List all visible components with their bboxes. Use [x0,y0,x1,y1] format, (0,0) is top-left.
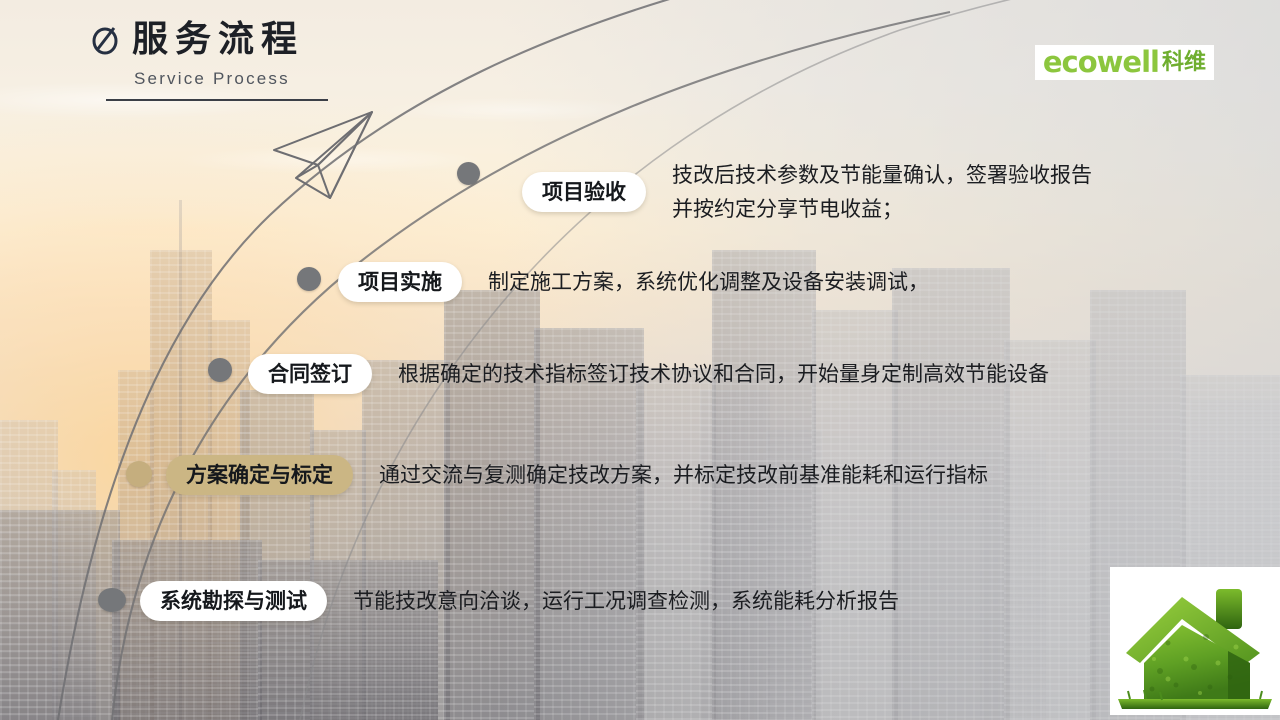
green-house-image [1110,567,1280,715]
timeline-dot-4[interactable] [126,461,152,487]
page-subtitle: Service Process [134,69,328,89]
step-description-2-line1: 制定施工方案，系统优化调整及设备安装调试， [488,270,929,294]
brand-name-en: ecowell [1043,48,1159,77]
step-label-4[interactable]: 方案确定与标定 [166,455,353,495]
step-description-2: 制定施工方案，系统优化调整及设备安装调试， [488,265,929,299]
step-label-3[interactable]: 合同签订 [248,354,372,394]
step-item-3[interactable]: 合同签订 根据确定的技术指标签订技术协议和合同，开始量身定制高效节能设备 [248,354,1049,394]
brand-name-cn: 科维 [1162,52,1206,74]
title-divider [106,99,328,101]
page-title: 服务流程 [132,22,304,58]
step-description-3: 根据确定的技术指标签订技术协议和合同，开始量身定制高效节能设备 [398,357,1049,391]
step-description-1: 技改后技术参数及节能量确认，签署验收报告 并按约定分享节电收益； [672,158,1092,226]
step-label-5[interactable]: 系统勘探与测试 [140,581,327,621]
step-item-5[interactable]: 系统勘探与测试 节能技改意向洽谈，运行工况调查检测，系统能耗分析报告 [140,581,899,621]
timeline-dot-2[interactable] [297,267,321,291]
step-label-1[interactable]: 项目验收 [522,172,646,212]
step-item-1[interactable]: 项目验收 技改后技术参数及节能量确认，签署验收报告 并按约定分享节电收益； [522,158,1092,226]
slide-canvas: 服务流程 Service Process ecowell 科维 项目验收 技改后… [0,0,1280,720]
timeline-dot-3[interactable] [208,358,232,382]
green-grass-house-icon [1110,567,1280,715]
step-item-4[interactable]: 方案确定与标定 通过交流与复测确定技改方案，并标定技改前基准能耗和运行指标 [166,455,988,495]
step-item-2[interactable]: 项目实施 制定施工方案，系统优化调整及设备安装调试， [338,262,929,302]
step-description-4-line1: 通过交流与复测确定技改方案，并标定技改前基准能耗和运行指标 [379,463,988,487]
step-description-4: 通过交流与复测确定技改方案，并标定技改前基准能耗和运行指标 [379,458,988,492]
timeline-dot-1[interactable] [457,162,480,185]
step-description-5: 节能技改意向洽谈，运行工况调查检测，系统能耗分析报告 [353,584,899,618]
step-description-3-line1: 根据确定的技术指标签订技术协议和合同，开始量身定制高效节能设备 [398,362,1049,386]
step-label-2[interactable]: 项目实施 [338,262,462,302]
page-title-block: 服务流程 Service Process [88,22,328,101]
timeline-dot-5[interactable] [98,588,126,612]
step-description-5-line1: 节能技改意向洽谈，运行工况调查检测，系统能耗分析报告 [353,589,899,613]
paper-plane-icon [274,112,372,198]
slashed-circle-icon [88,23,122,57]
step-description-1-line2: 并按约定分享节电收益； [672,192,1092,226]
brand-logo: ecowell 科维 [1035,45,1214,80]
step-description-1-line1: 技改后技术参数及节能量确认，签署验收报告 [672,163,1092,187]
